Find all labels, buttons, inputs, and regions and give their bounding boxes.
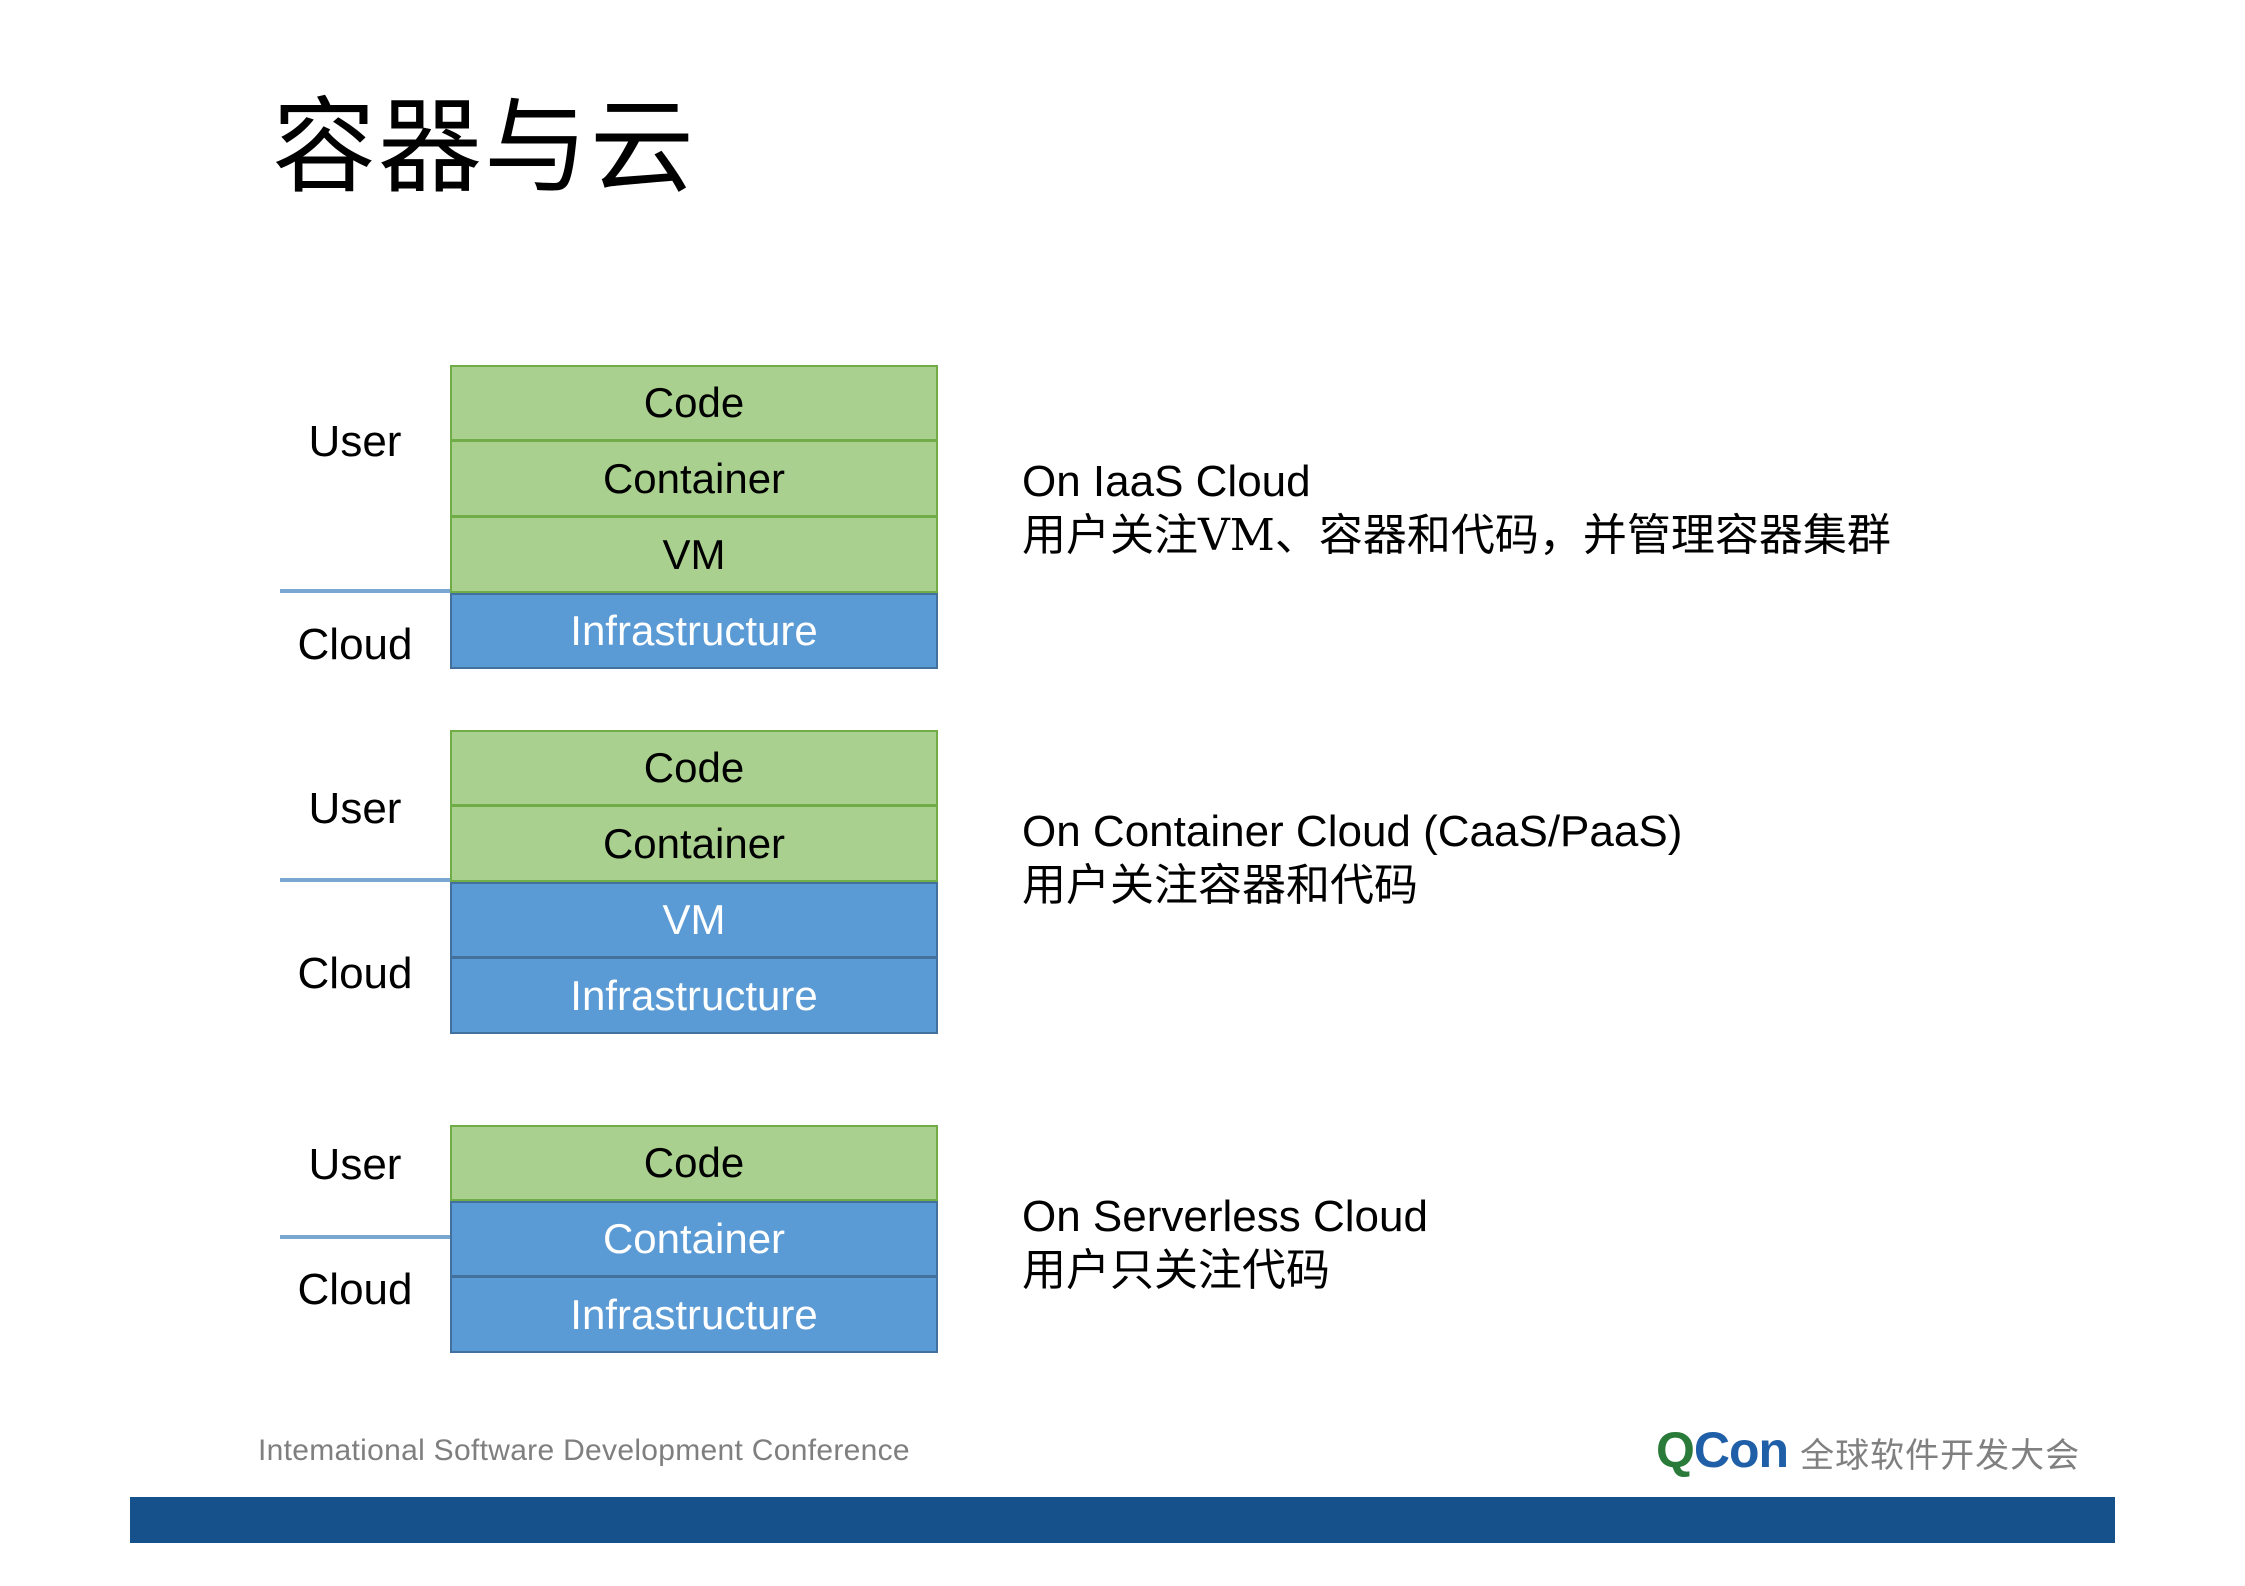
layer-vm: VM [450,882,938,958]
layer-stack: Code Container VM Infrastructure [450,365,938,669]
side-label-user: User [270,787,440,831]
annotation-desc-zh: 用户只关注代码 [1022,1244,1428,1298]
layer-stack: Code Container Infrastructure [450,1125,938,1353]
diagram-group-container-cloud: User Cloud Code Container VM Infrastruct… [270,730,970,1035]
logo-chinese-text: 全球软件开发大会 [1800,1428,2080,1477]
annotation-title-en: On Serverless Cloud [1022,1190,1428,1244]
zone-divider [280,878,452,882]
side-label-cloud: Cloud [270,952,440,996]
layer-stack: Code Container VM Infrastructure [450,730,938,1034]
layer-vm: VM [450,517,938,593]
logo-con-text: Con [1694,1421,1788,1479]
side-label-user: User [270,1143,440,1187]
footer-tagline: Intemational Software Development Confer… [258,1434,910,1468]
layer-infrastructure: Infrastructure [450,593,938,669]
layer-container: Container [450,806,938,882]
diagram-group-iaas: User Cloud Code Container VM Infrastruct… [270,365,970,670]
layer-infrastructure: Infrastructure [450,958,938,1034]
layer-code: Code [450,1125,938,1201]
annotation-serverless: On Serverless Cloud 用户只关注代码 [1022,1190,1428,1297]
layer-container: Container [450,1201,938,1277]
annotation-title-en: On IaaS Cloud [1022,455,1891,509]
logo-q-text: Q [1656,1421,1694,1479]
annotation-iaas: On IaaS Cloud 用户关注VM、容器和代码，并管理容器集群 [1022,455,1891,562]
side-label-cloud: Cloud [270,1268,440,1312]
side-label-user: User [270,420,440,464]
layer-infrastructure: Infrastructure [450,1277,938,1353]
zone-divider [280,1235,452,1239]
page-title: 容器与云 [272,88,696,208]
diagram-group-serverless: User Cloud Code Container Infrastructure [270,1125,970,1357]
annotation-desc-zh: 用户关注VM、容器和代码，并管理容器集群 [1022,509,1891,563]
annotation-container-cloud: On Container Cloud (CaaS/PaaS) 用户关注容器和代码 [1022,805,1682,912]
zone-divider [280,589,452,593]
side-label-cloud: Cloud [270,623,440,667]
qcon-logo: QCon 全球软件开发大会 [1656,1421,2080,1479]
layer-container: Container [450,441,938,517]
layer-code: Code [450,730,938,806]
annotation-desc-zh: 用户关注容器和代码 [1022,859,1682,913]
layer-code: Code [450,365,938,441]
slide-canvas: 容器与云 User Cloud Code Container VM Infras… [0,0,2245,1586]
bottom-accent-bar [130,1497,2115,1543]
annotation-title-en: On Container Cloud (CaaS/PaaS) [1022,805,1682,859]
